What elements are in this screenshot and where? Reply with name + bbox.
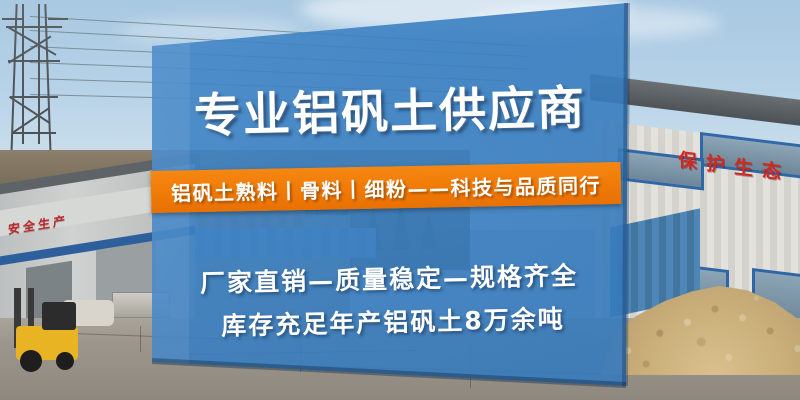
page-title: 专业铝矾土供应商: [151, 79, 628, 147]
orange-ribbon-label: 铝矾土熟料丨骨料丨细粉——科技与品质同行: [171, 169, 601, 206]
banner-stage: 安全生产 保护生态: [0, 0, 800, 400]
